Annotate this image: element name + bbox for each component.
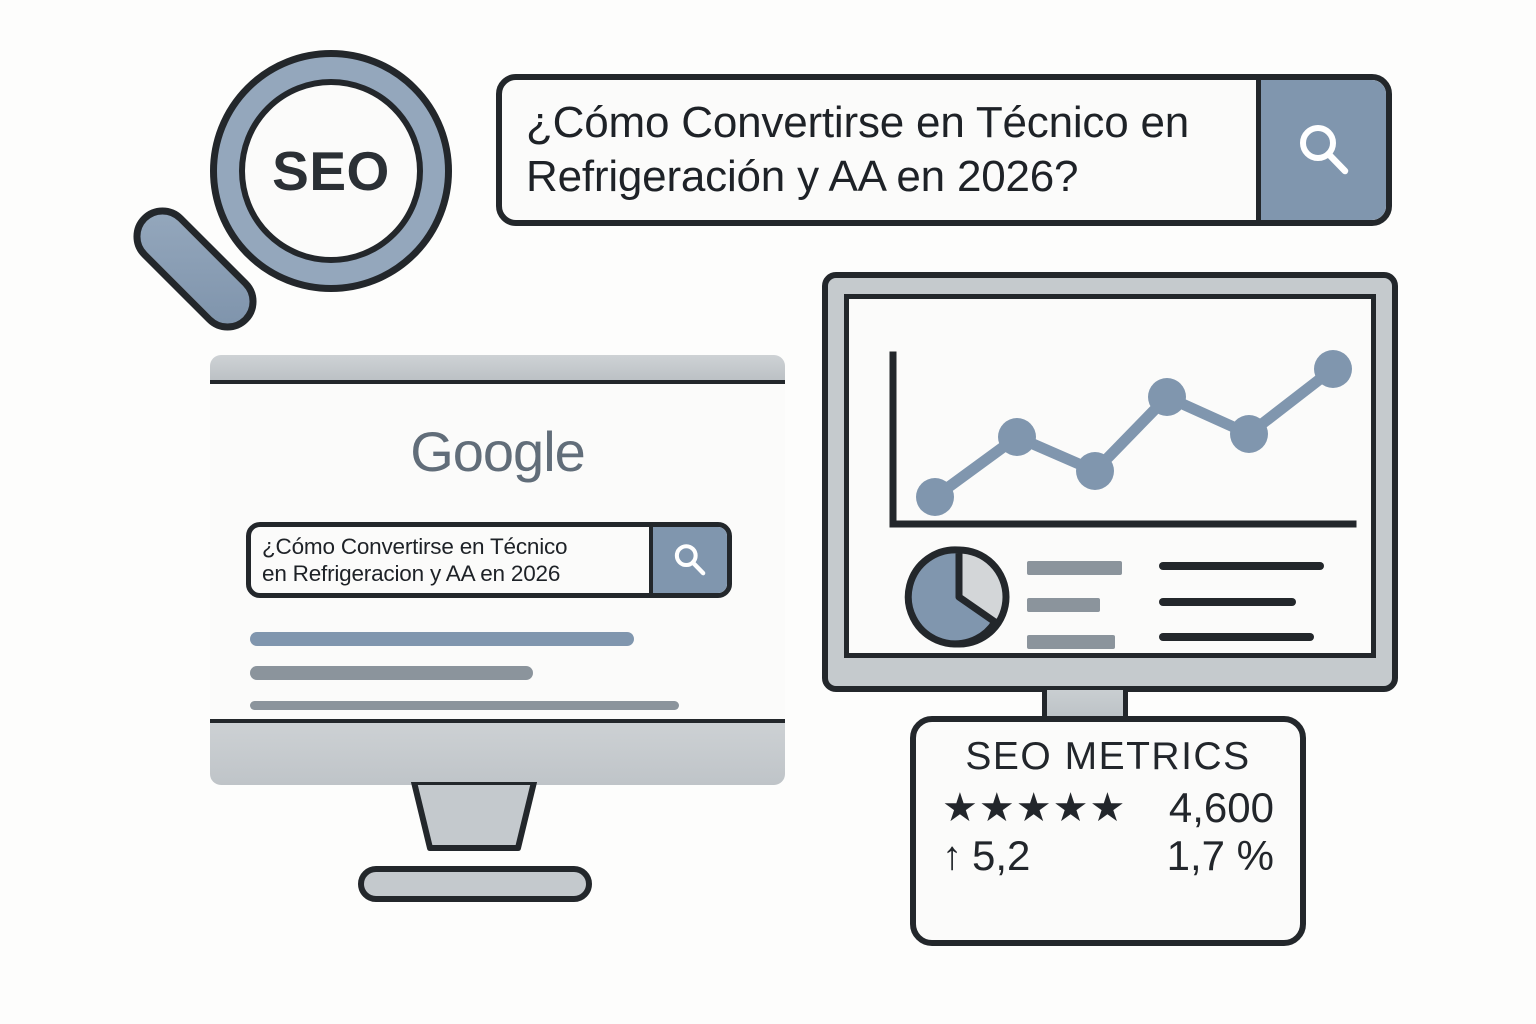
result-bar [250,632,634,646]
google-monitor-bottom-bezel [210,719,785,785]
main-search-input[interactable]: ¿Cómo Convertirse en Técnico en Refriger… [502,80,1256,220]
analytics-dashboard [849,299,1371,653]
result-bar [250,666,533,680]
line-chart-series [916,350,1352,516]
google-monitor-top-bezel [210,355,785,384]
main-search-bar[interactable]: ¿Cómo Convertirse en Técnico en Refriger… [496,74,1392,226]
seo-metrics-panel: SEO METRICS ★★★★★ 4,600 ↑ 5,2 1,7 % [910,716,1306,946]
data-point [998,418,1036,456]
main-search-line-1: ¿Cómo Convertirse en Técnico en [526,98,1189,147]
magnifier-lens: SEO [239,79,423,263]
analytics-monitor-screen [844,294,1376,658]
google-monitor: Google ¿Cómo Convertirse en Técnico en R… [210,355,785,785]
google-logo: Google [210,424,785,480]
google-search-input[interactable]: ¿Cómo Convertirse en Técnico en Refriger… [251,527,649,593]
search-icon [1292,118,1356,182]
google-search-line-1: ¿Cómo Convertirse en Técnico [262,534,567,559]
legend-bar [1027,561,1122,575]
text-line [1159,562,1324,570]
data-point [1076,452,1114,490]
metrics-title: SEO METRICS [965,736,1250,779]
legend-bar [1027,635,1115,649]
result-bar [250,701,679,710]
text-line [1159,598,1296,606]
main-search-button[interactable] [1256,80,1386,220]
search-icon [670,540,710,580]
monitor-stand-neck [408,782,540,854]
pie-chart [908,550,1006,644]
legend-bar [1027,598,1100,612]
seo-magnifier: SEO [110,40,470,400]
data-point [1230,415,1268,453]
analytics-monitor [822,272,1398,692]
seo-label: SEO [272,144,390,199]
magnifier-ring: SEO [210,50,452,292]
google-monitor-screen: Google ¿Cómo Convertirse en Técnico en R… [210,384,785,723]
main-search-line-2: Refrigeración y AA en 2026? [526,152,1078,201]
metrics-row-trend: ↑ 5,2 1,7 % [916,835,1300,877]
ctr-value: 1,7 % [1167,835,1274,877]
seo-illustration-canvas: SEO ¿Cómo Convertirse en Técnico en Refr… [0,0,1536,1024]
rating-stars: ★★★★★ [942,788,1126,828]
text-line [1159,633,1314,641]
trend-group: ↑ 5,2 [942,835,1030,877]
text-lines [1159,562,1324,653]
google-search-line-2: en Refrigeracion y AA en 2026 [262,561,560,586]
trend-value: 5,2 [972,835,1030,877]
legend-bars [1027,561,1122,649]
data-point [1148,378,1186,416]
monitor-stand-base [358,866,592,902]
arrow-up-icon: ↑ [942,836,962,876]
metrics-row-rating: ★★★★★ 4,600 [916,787,1300,829]
data-point [916,478,954,516]
google-search-bar[interactable]: ¿Cómo Convertirse en Técnico en Refriger… [246,522,732,598]
google-search-button[interactable] [649,527,727,593]
search-volume-value: 4,600 [1169,787,1274,829]
data-point [1314,350,1352,388]
